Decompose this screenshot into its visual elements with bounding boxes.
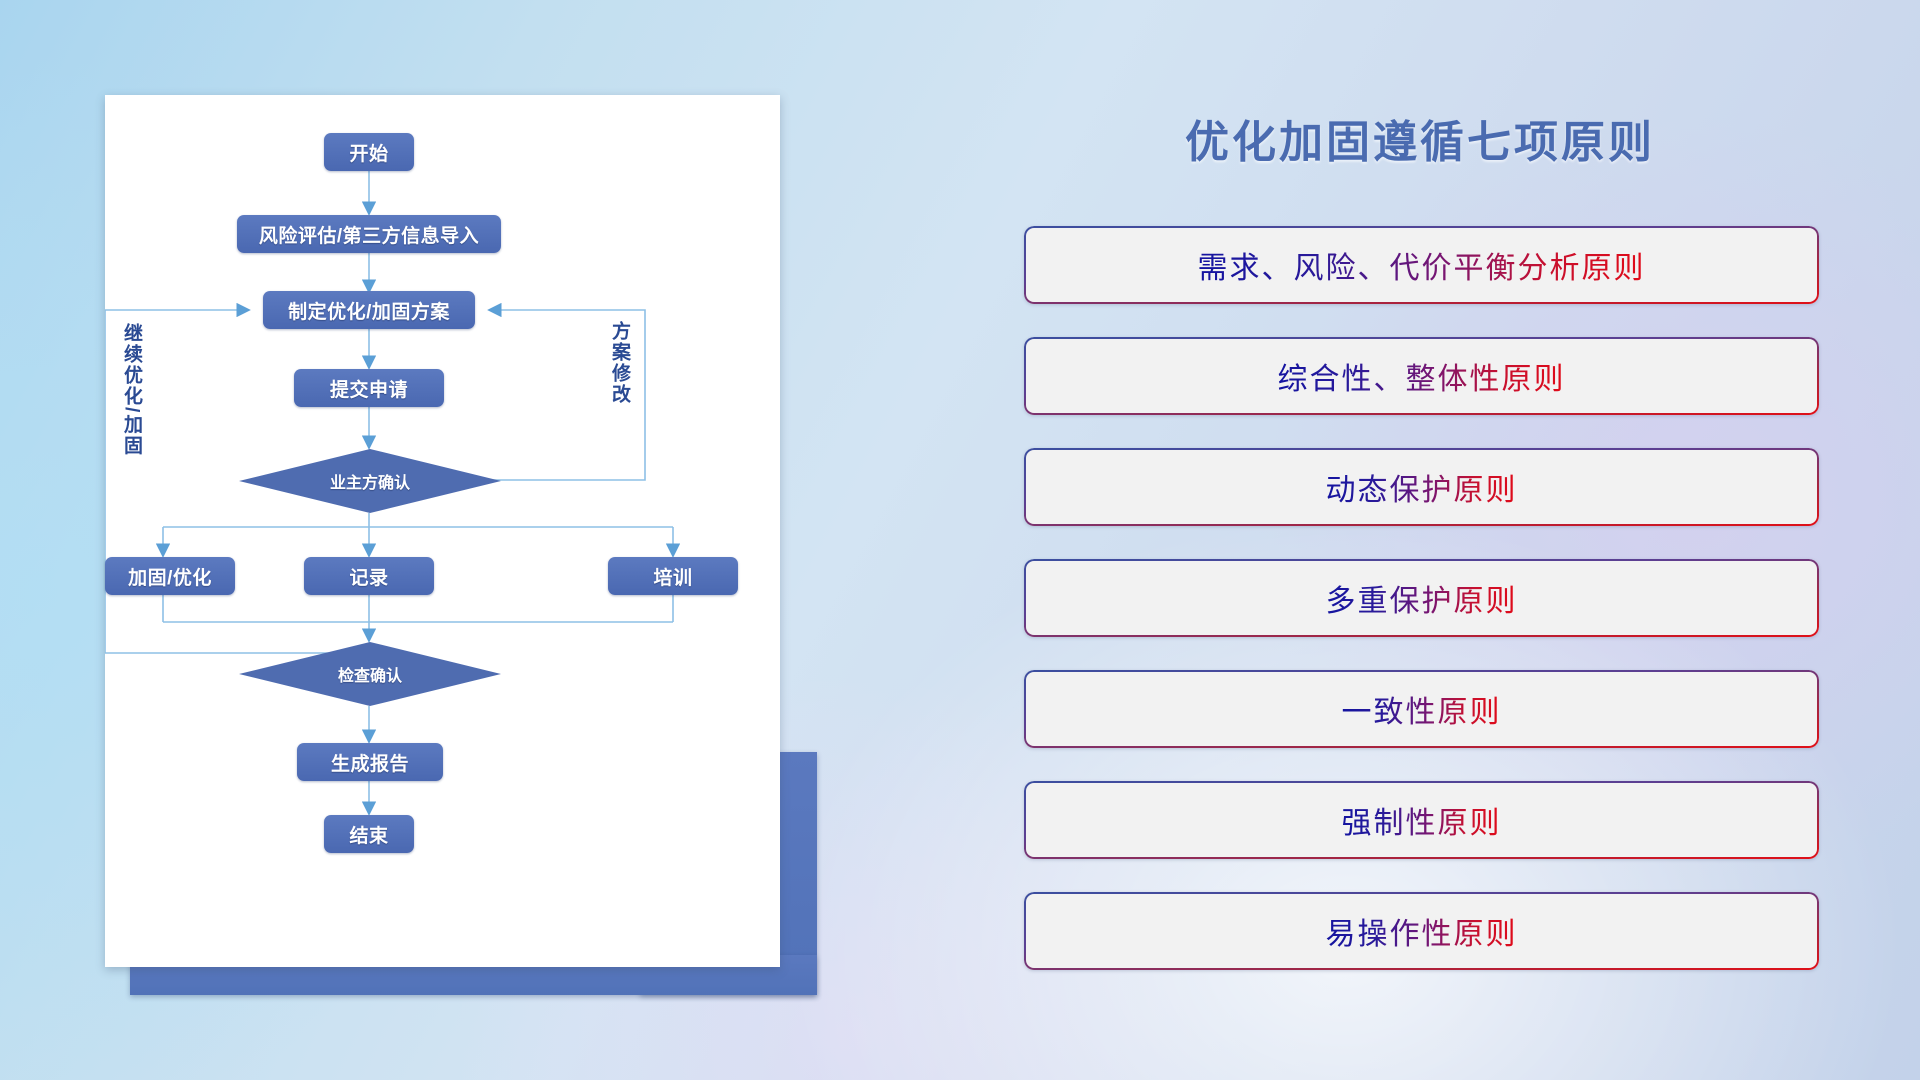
principle-label: 需求、风险、代价平衡分析原则 [1198,243,1646,287]
flow-node-label: 加固/优化 [128,563,212,590]
flow-node-training[interactable]: 培训 [608,557,738,595]
principle-label: 强制性原则 [1342,798,1502,842]
flow-node-label: 制定优化/加固方案 [288,297,450,324]
flow-node-label: 业主方确认 [330,469,410,493]
flowchart: 开始 风险评估/第三方信息导入 制定优化/加固方案 提交申请 业主方确认 加固/… [105,95,780,967]
flow-node-reinforce-optimize[interactable]: 加固/优化 [105,557,235,595]
edge-label-continue-optimize: 继续优化/加固 [118,323,145,456]
flow-node-label: 结束 [349,821,388,848]
principle-label: 易操作性原则 [1326,909,1518,953]
flow-node-make-plan[interactable]: 制定优化/加固方案 [263,291,475,329]
principle-item-3[interactable]: 动态保护原则 [1024,448,1819,526]
principle-label: 综合性、整体性原则 [1278,354,1566,398]
flow-node-label: 风险评估/第三方信息导入 [259,221,479,248]
flow-node-risk-assessment[interactable]: 风险评估/第三方信息导入 [237,215,501,253]
principles-list: 需求、风险、代价平衡分析原则 综合性、整体性原则 动态保护原则 多重保护原则 一… [1024,226,1819,1003]
flow-node-generate-report[interactable]: 生成报告 [297,743,443,781]
flow-node-start[interactable]: 开始 [324,133,414,171]
flow-node-label: 检查确认 [338,662,402,686]
principle-item-4[interactable]: 多重保护原则 [1024,559,1819,637]
principles-panel: 优化加固遵循七项原则 需求、风险、代价平衡分析原则 综合性、整体性原则 动态保护… [1000,80,1840,1030]
flow-node-label: 培训 [653,563,692,590]
principle-item-2[interactable]: 综合性、整体性原则 [1024,337,1819,415]
flow-node-label: 开始 [349,139,388,166]
flow-node-label: 生成报告 [331,749,409,776]
principle-item-7[interactable]: 易操作性原则 [1024,892,1819,970]
flow-node-record[interactable]: 记录 [304,557,434,595]
principle-item-1[interactable]: 需求、风险、代价平衡分析原则 [1024,226,1819,304]
flow-node-label: 提交申请 [330,375,408,402]
principle-item-6[interactable]: 强制性原则 [1024,781,1819,859]
principle-label: 多重保护原则 [1326,576,1518,620]
principle-label: 动态保护原则 [1326,465,1518,509]
principle-label: 一致性原则 [1342,687,1502,731]
flow-node-submit-application[interactable]: 提交申请 [294,369,444,407]
edge-label-plan-revision: 方案修改 [606,321,633,405]
principle-item-5[interactable]: 一致性原则 [1024,670,1819,748]
flow-node-label: 记录 [349,563,388,590]
page-title: 优化加固遵循七项原则 [1000,106,1840,170]
flow-node-end[interactable]: 结束 [324,815,414,853]
